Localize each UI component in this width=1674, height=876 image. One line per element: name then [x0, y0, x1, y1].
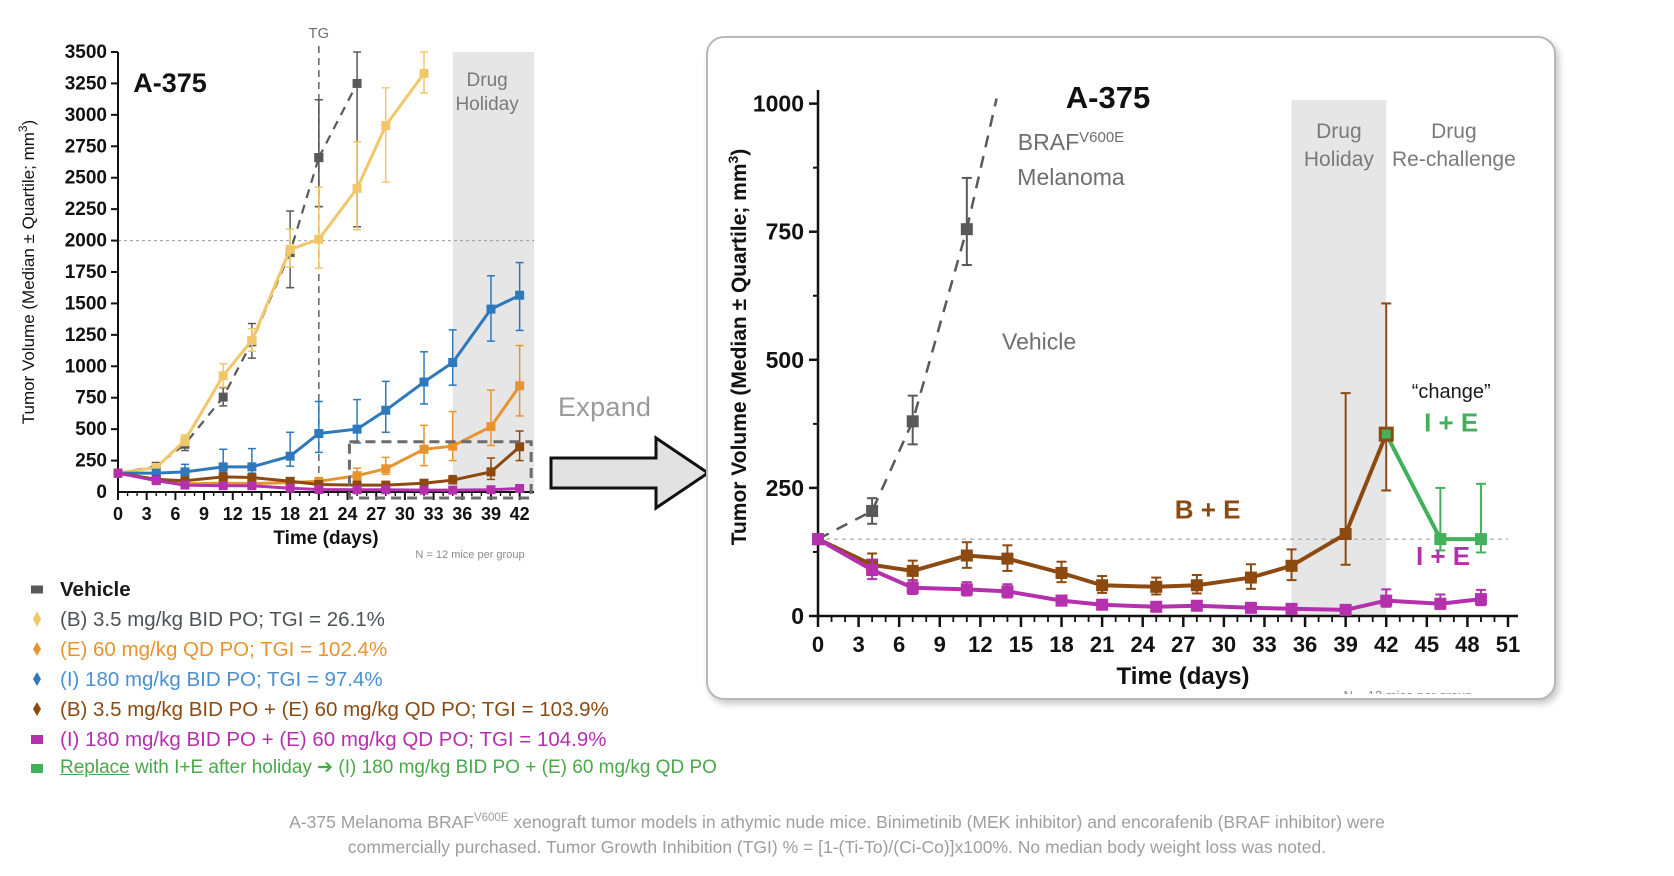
legend-marker-i-plus-e-change: [26, 758, 48, 780]
data-point: [907, 565, 919, 577]
figure-caption: A-375 Melanoma BRAFV600E xenograft tumor…: [0, 810, 1674, 861]
data-point: [1475, 533, 1487, 545]
data-point: [420, 69, 429, 78]
caption-1-pre: A-375 Melanoma BRAF: [289, 812, 474, 832]
legend-marker-encorafenib: [26, 638, 48, 660]
legend-item: Vehicle: [26, 578, 686, 608]
vehicle-annotation: Vehicle: [1002, 329, 1076, 355]
n-note: N = 12 mice per group: [1344, 688, 1473, 694]
data-point: [486, 467, 495, 476]
data-point: [907, 582, 919, 594]
right-chart-svg: 02505007501000Tumor Volume (Median ± Qua…: [708, 38, 1550, 694]
data-point: [381, 485, 390, 494]
y-tick-label: 500: [75, 419, 107, 440]
x-tick-label: 18: [1049, 632, 1073, 657]
x-tick-label: 51: [1496, 632, 1520, 657]
n-note: N = 12 mice per group: [415, 549, 524, 561]
x-tick-label: 42: [510, 504, 530, 524]
x-tick-label: 0: [812, 632, 824, 657]
legend-marker-i-plus-e: [26, 728, 48, 750]
y-axis-title: Tumor Volume (Median ± Quartile; mm3): [725, 149, 751, 546]
data-point: [448, 476, 457, 485]
i-plus-e-annotation: I + E: [1416, 541, 1470, 571]
data-point: [812, 533, 824, 545]
replace-note-underlined: Replace: [60, 757, 130, 778]
caption-1-sup: V600E: [474, 812, 509, 824]
data-point: [420, 486, 429, 495]
x-tick-label: 24: [1130, 632, 1155, 657]
y-tick-label: 1000: [753, 91, 804, 117]
data-point: [219, 393, 228, 402]
y-tick-label: 1000: [65, 356, 107, 377]
legend-item: (I) 180 mg/kg BID PO; TGI = 97.4%: [26, 668, 686, 698]
x-tick-label: 39: [1333, 632, 1357, 657]
right-figure-panel: 02505007501000Tumor Volume (Median ± Qua…: [706, 36, 1556, 700]
data-point: [515, 484, 524, 493]
y-tick-label: 750: [766, 219, 804, 245]
x-axis-title: Time (days): [1117, 663, 1250, 690]
replace-note-rest: with I+E after holiday ➔ (I) 180 mg/kg B…: [130, 757, 717, 778]
data-point: [314, 429, 323, 438]
x-tick-label: 21: [309, 504, 329, 524]
x-tick-label: 42: [1374, 632, 1398, 657]
data-point: [1191, 600, 1203, 612]
x-tick-label: 45: [1415, 632, 1439, 657]
y-tick-label: 0: [791, 603, 804, 629]
data-point: [1096, 599, 1108, 611]
series-line: [1386, 434, 1481, 539]
legend-label-vehicle: Vehicle: [60, 578, 131, 602]
data-point: [961, 583, 973, 595]
data-point: [448, 486, 457, 495]
series-line: [118, 158, 319, 474]
x-tick-label: 6: [170, 504, 180, 524]
data-point: [1245, 572, 1257, 584]
y-tick-label: 3500: [65, 42, 107, 63]
b-plus-e-annotation: B + E: [1175, 495, 1241, 525]
legend-label-encorafenib: (E) 60 mg/kg QD PO; TGI = 102.4%: [60, 638, 387, 662]
x-tick-label: 36: [1293, 632, 1317, 657]
data-point: [515, 442, 524, 451]
data-point: [219, 462, 228, 471]
data-point: [314, 485, 323, 494]
y-tick-label: 0: [96, 482, 107, 503]
x-tick-label: 48: [1455, 632, 1479, 657]
series-line: [118, 73, 424, 473]
x-axis-title: Time (days): [273, 528, 378, 549]
x-tick-label: 3: [142, 504, 152, 524]
y-tick-label: 1250: [65, 325, 107, 346]
y-tick-label: 1750: [65, 262, 107, 283]
x-tick-label: 12: [223, 504, 243, 524]
x-tick-label: 9: [199, 504, 209, 524]
data-point: [353, 471, 362, 480]
x-tick-label: 27: [366, 504, 386, 524]
data-point: [1340, 528, 1352, 540]
data-point: [247, 336, 256, 345]
x-tick-label: 12: [968, 632, 992, 657]
data-point: [247, 481, 256, 490]
y-tick-label: 3250: [65, 73, 107, 94]
x-tick-label: 36: [452, 504, 472, 524]
x-tick-label: 6: [893, 632, 905, 657]
x-tick-label: 33: [424, 504, 444, 524]
data-point: [219, 481, 228, 490]
x-tick-label: 30: [395, 504, 415, 524]
legend-label-i-plus-e: (I) 180 mg/kg BID PO + (E) 60 mg/kg QD P…: [60, 728, 607, 752]
legend-item: (E) 60 mg/kg QD PO; TGI = 102.4%: [26, 638, 686, 668]
caption-line-1: A-375 Melanoma BRAFV600E xenograft tumor…: [0, 810, 1674, 835]
legend-item: (I) 180 mg/kg BID PO + (E) 60 mg/kg QD P…: [26, 728, 686, 758]
data-point: [1001, 553, 1013, 565]
data-point: [180, 436, 189, 445]
data-point: [486, 422, 495, 431]
data-point: [353, 485, 362, 494]
data-point: [1150, 601, 1162, 613]
caption-1-post: xenograft tumor models in athymic nude m…: [508, 812, 1384, 832]
data-point: [1056, 567, 1068, 579]
replace-note: Replace with I+E after holiday ➔ (I) 180…: [60, 756, 717, 779]
data-point: [1191, 579, 1203, 591]
x-tick-label: 24: [338, 504, 358, 524]
data-point: [152, 476, 161, 485]
y-tick-label: 2000: [65, 231, 107, 252]
y-tick-label: 500: [766, 347, 804, 373]
data-point: [420, 445, 429, 454]
x-tick-label: 18: [280, 504, 300, 524]
data-point: [1340, 604, 1352, 616]
x-tick-label: 15: [251, 504, 271, 524]
legend-marker-binimetinib: [26, 608, 48, 630]
legend-marker-vehicle: [26, 578, 48, 600]
x-tick-label: 30: [1212, 632, 1236, 657]
data-point: [486, 485, 495, 494]
data-point: [314, 153, 323, 162]
right-chart-subtitle-line2: Melanoma: [1017, 164, 1125, 190]
drug-rechallenge-label: Drug: [1431, 120, 1477, 143]
data-point: [1475, 593, 1487, 605]
data-point: [1434, 598, 1446, 610]
x-tick-label: 9: [934, 632, 946, 657]
data-point: [353, 425, 362, 434]
data-point: [286, 452, 295, 461]
vehicle-extension: [967, 98, 997, 229]
x-tick-label: 39: [481, 504, 501, 524]
data-point: [448, 358, 457, 367]
series-line: [818, 229, 967, 539]
y-tick-label: 2750: [65, 136, 107, 157]
data-point: [381, 406, 390, 415]
data-point: [353, 79, 362, 88]
y-tick-label: 3000: [65, 105, 107, 126]
x-tick-label: 33: [1252, 632, 1276, 657]
x-tick-label: 21: [1090, 632, 1114, 657]
data-point: [1001, 585, 1013, 597]
y-tick-label: 1500: [65, 293, 107, 314]
x-tick-label: 27: [1171, 632, 1195, 657]
right-chart-title: A-375: [1066, 80, 1150, 115]
data-point: [286, 245, 295, 254]
drug-holiday-label: Holiday: [455, 94, 519, 115]
data-point: [1245, 602, 1257, 614]
data-point: [1380, 595, 1392, 607]
drug-holiday-label: Holiday: [1304, 148, 1375, 171]
x-tick-label: 15: [1009, 632, 1033, 657]
data-point: [114, 469, 123, 478]
legend-marker-b-plus-e: [26, 698, 48, 720]
tg-label: TG: [308, 25, 329, 42]
left-chart-title: A-375: [133, 68, 207, 98]
legend-label-binimetinib: (B) 3.5 mg/kg BID PO; TGI = 26.1%: [60, 608, 385, 632]
change-quote-annotation: “change”: [1412, 381, 1491, 403]
data-point: [486, 305, 495, 314]
expand-arrow-icon: [548, 428, 713, 518]
y-tick-label: 250: [766, 475, 804, 501]
data-point: [314, 235, 323, 244]
data-point: [420, 378, 429, 387]
data-point: [180, 467, 189, 476]
series-line: [319, 83, 357, 157]
data-point: [381, 464, 390, 473]
legend-label-inhibitor-i: (I) 180 mg/kg BID PO; TGI = 97.4%: [60, 668, 383, 692]
y-axis-title: Tumor Volume (Median ± Quartile; mm3): [16, 120, 38, 424]
right-chart-subtitle: BRAFV600E: [1018, 129, 1124, 156]
data-point: [1286, 603, 1298, 615]
change-transition-point: [1380, 428, 1392, 440]
data-point: [353, 184, 362, 193]
y-tick-label: 2250: [65, 199, 107, 220]
data-point: [515, 291, 524, 300]
data-point: [961, 550, 973, 562]
data-point: [1096, 579, 1108, 591]
legend-item: (B) 3.5 mg/kg BID PO + (E) 60 mg/kg QD P…: [26, 698, 686, 728]
expand-annotation: Expand: [548, 392, 713, 512]
data-point: [907, 415, 919, 427]
x-tick-label: 0: [113, 504, 123, 524]
data-point: [381, 121, 390, 130]
y-tick-label: 250: [75, 451, 107, 472]
data-point: [219, 472, 228, 481]
data-point: [1286, 560, 1298, 572]
drug-holiday-label: Drug: [467, 70, 508, 91]
data-point: [515, 381, 524, 390]
caption-line-2: commercially purchased. Tumor Growth Inh…: [0, 835, 1674, 860]
expand-label: Expand: [558, 392, 651, 423]
change-i-plus-e-annotation: I + E: [1424, 408, 1478, 438]
drug-holiday-label: Drug: [1316, 120, 1362, 143]
data-point: [1056, 595, 1068, 607]
data-point: [1150, 581, 1162, 593]
x-tick-label: 3: [852, 632, 864, 657]
data-point: [247, 462, 256, 471]
data-point: [866, 564, 878, 576]
drug-rechallenge-label: Re-challenge: [1392, 148, 1516, 171]
data-point: [180, 481, 189, 490]
y-tick-label: 750: [75, 388, 107, 409]
legend-label-b-plus-e: (B) 3.5 mg/kg BID PO + (E) 60 mg/kg QD P…: [60, 698, 609, 722]
data-point: [247, 473, 256, 482]
data-point: [219, 371, 228, 380]
data-point: [286, 484, 295, 493]
y-tick-label: 2500: [65, 168, 107, 189]
data-point: [866, 505, 878, 517]
legend-marker-inhibitor-i: [26, 668, 48, 690]
legend-item: (B) 3.5 mg/kg BID PO; TGI = 26.1%: [26, 608, 686, 638]
